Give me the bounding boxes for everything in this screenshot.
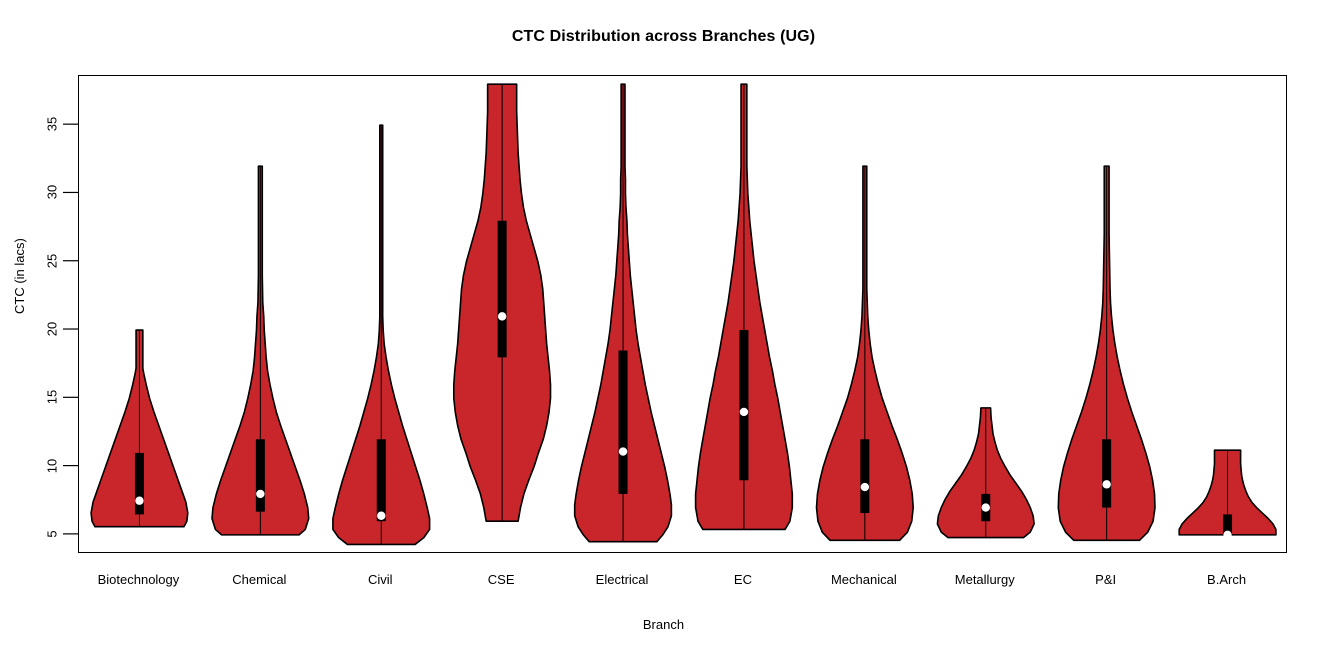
violin-metallurgy xyxy=(937,408,1034,538)
median-marker xyxy=(256,490,264,498)
x-tick-label-civil: Civil xyxy=(368,572,393,587)
x-tick-label-biotechnology: Biotechnology xyxy=(98,572,180,587)
y-tick-label-20: 20 xyxy=(45,322,60,336)
median-marker xyxy=(1223,531,1231,539)
iqr-box xyxy=(498,221,507,358)
y-axis-title: CTC (in lacs) xyxy=(12,238,27,314)
median-marker xyxy=(740,408,748,416)
median-marker xyxy=(619,447,627,455)
y-axis-ticks xyxy=(0,75,78,553)
violin-biotechnology xyxy=(91,330,188,527)
violin-mechanical xyxy=(816,166,913,540)
x-axis-title: Branch xyxy=(0,617,1327,632)
violin-civil xyxy=(333,125,430,544)
y-tick-label-25: 25 xyxy=(45,254,60,268)
iqr-box xyxy=(860,439,869,513)
violin-cse xyxy=(454,84,551,521)
x-tick-label-cse: CSE xyxy=(488,572,515,587)
violin-plot-figure: CTC Distribution across Branches (UG) 51… xyxy=(0,0,1327,653)
median-marker xyxy=(498,312,506,320)
x-tick-label-mechanical: Mechanical xyxy=(831,572,897,587)
iqr-box xyxy=(1102,439,1111,507)
x-tick-label-b-arch: B.Arch xyxy=(1207,572,1246,587)
median-marker xyxy=(1102,480,1110,488)
median-marker xyxy=(982,503,990,511)
median-marker xyxy=(135,497,143,505)
median-marker xyxy=(861,483,869,491)
violin-series-group xyxy=(79,76,1288,554)
x-tick-label-metallurgy: Metallurgy xyxy=(955,572,1015,587)
iqr-box xyxy=(619,351,628,494)
x-tick-label-p-i: P&I xyxy=(1095,572,1116,587)
median-marker xyxy=(377,512,385,520)
y-tick-label-15: 15 xyxy=(45,390,60,404)
page-title: CTC Distribution across Branches (UG) xyxy=(0,28,1327,46)
violin-chemical xyxy=(212,166,309,535)
y-axis: 5101520253035 xyxy=(0,75,78,553)
iqr-box xyxy=(135,453,144,514)
iqr-box xyxy=(377,439,386,521)
violin-ec xyxy=(696,84,793,529)
x-tick-label-chemical: Chemical xyxy=(232,572,286,587)
x-tick-label-electrical: Electrical xyxy=(596,572,649,587)
violin-electrical xyxy=(575,84,672,542)
plot-area xyxy=(78,75,1287,553)
violin-b-arch xyxy=(1179,450,1276,539)
y-tick-label-10: 10 xyxy=(45,458,60,472)
violin-p-i xyxy=(1058,166,1155,540)
y-tick-label-5: 5 xyxy=(45,530,60,537)
y-tick-label-35: 35 xyxy=(45,117,60,131)
x-tick-label-ec: EC xyxy=(734,572,752,587)
iqr-box xyxy=(739,330,748,480)
y-tick-label-30: 30 xyxy=(45,185,60,199)
iqr-box xyxy=(256,439,265,511)
